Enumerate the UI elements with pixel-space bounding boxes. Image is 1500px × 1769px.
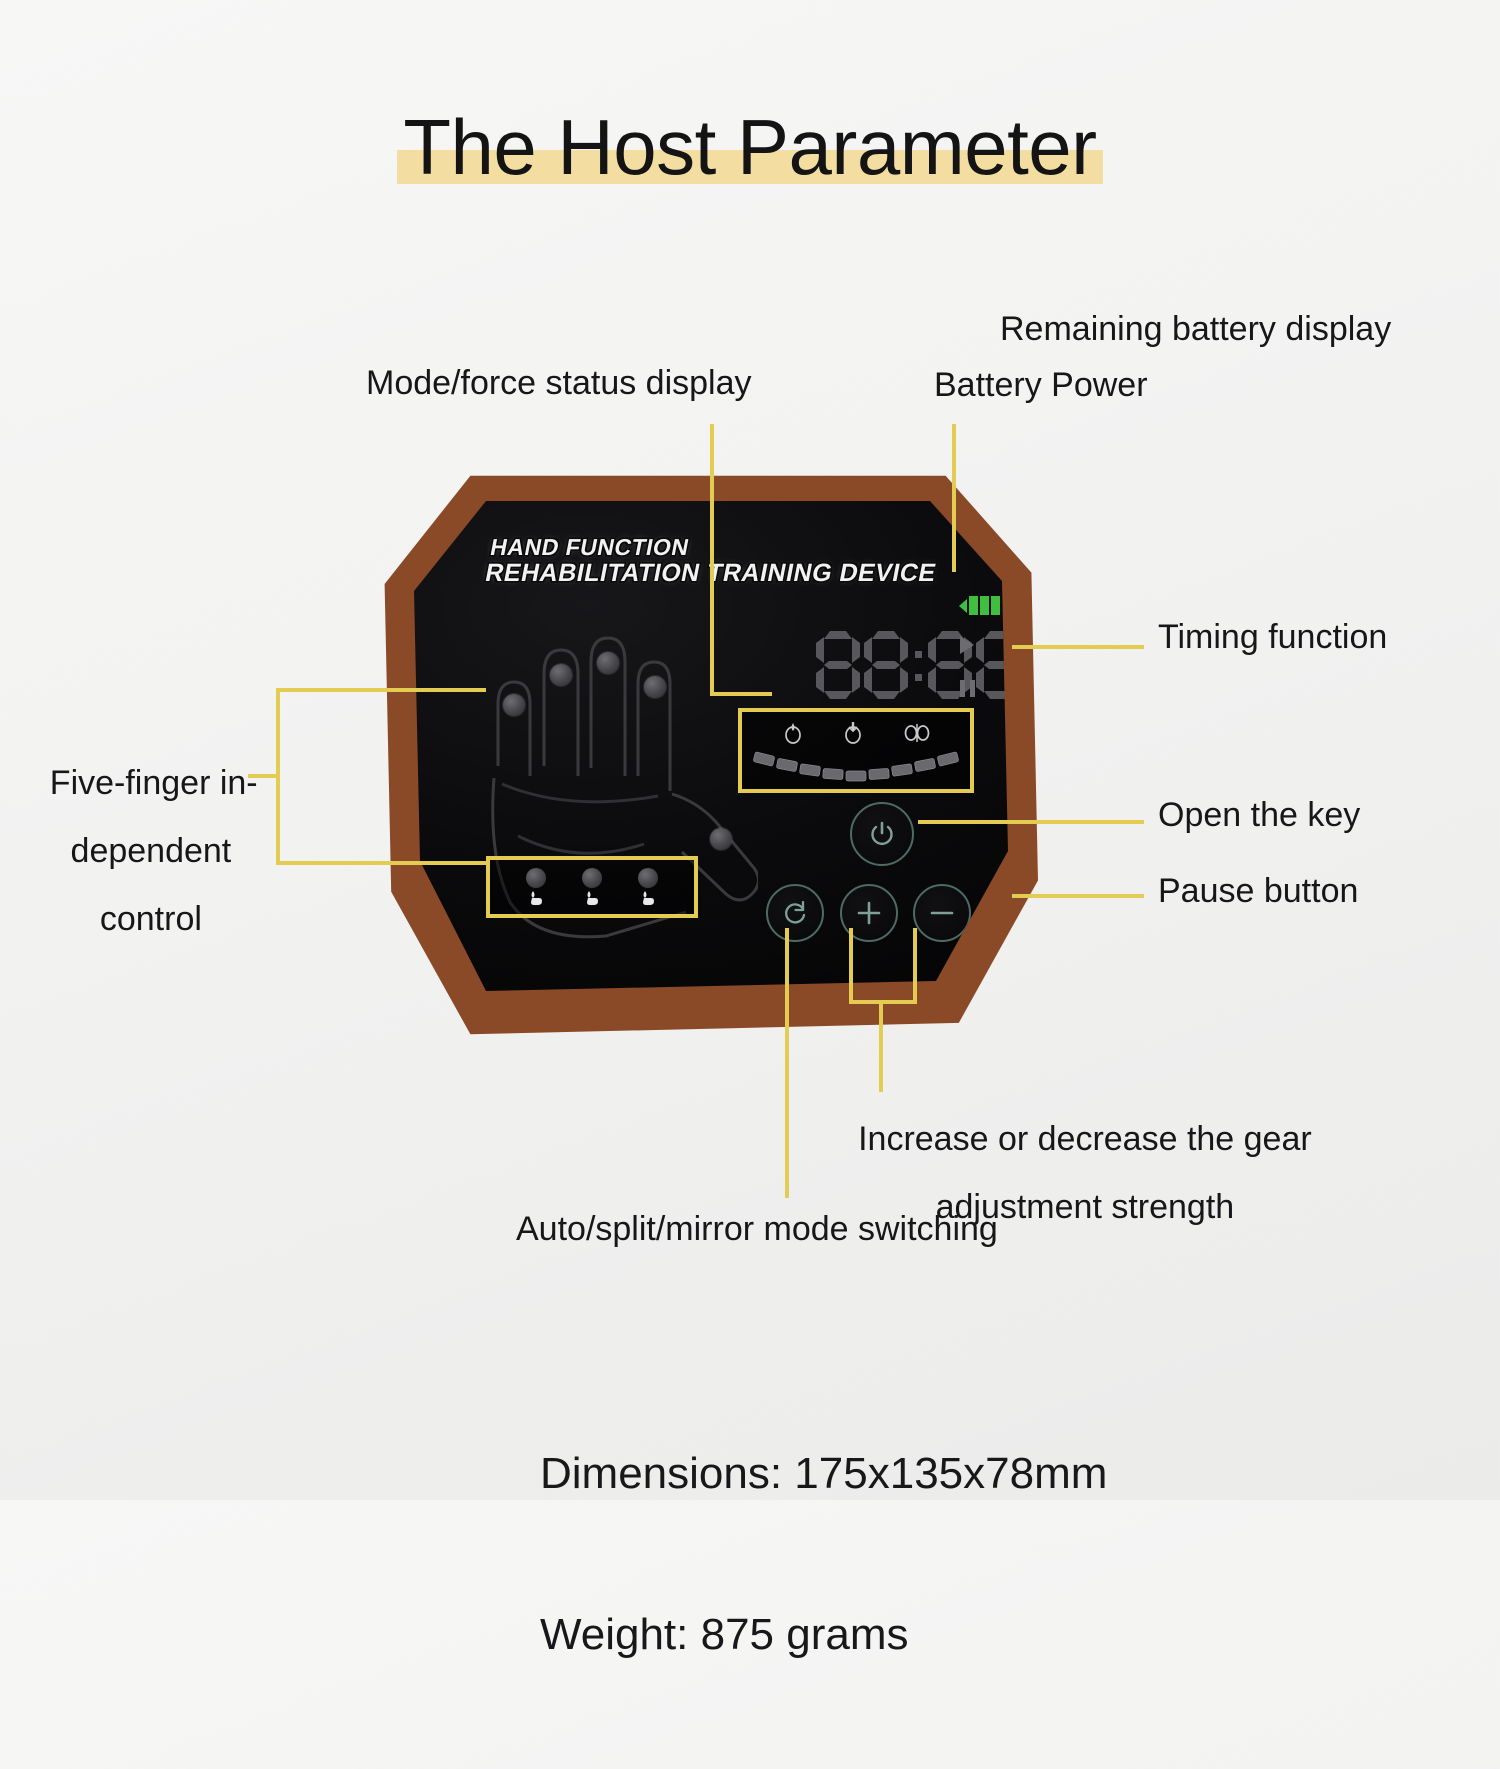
- power-icon: [867, 819, 897, 849]
- battery-bar-3: [991, 596, 1000, 615]
- device-illustration: HAND FUNCTION REHABILITATION TRAINING DE…: [378, 470, 1038, 1040]
- hand-grip-icon: [783, 720, 803, 744]
- leader-open-key-horizontal: [918, 820, 1144, 824]
- mode-force-status-panel: [738, 708, 974, 793]
- finger-sensor-1[interactable]: [526, 868, 546, 907]
- page-title: The Host Parameter: [0, 108, 1500, 186]
- page-title-text: The Host Parameter: [403, 103, 1096, 191]
- timer-colon: [912, 631, 924, 699]
- label-mode-switching: Auto/split/mirror mode switching: [516, 1212, 998, 1246]
- hand-mirror-icon: [904, 720, 930, 744]
- label-remaining-battery: Remaining battery display: [1000, 312, 1391, 346]
- mode-button[interactable]: [766, 884, 824, 942]
- battery-terminal-icon: [959, 599, 967, 613]
- battery-indicator: [959, 596, 1000, 615]
- timer-digit-2: [864, 631, 908, 699]
- finger-led-ring: [597, 652, 619, 674]
- leader-five-finger-top: [276, 688, 486, 692]
- leader-mode-switch-vertical: [785, 928, 789, 1198]
- label-five-finger-line2: dependent: [71, 832, 232, 870]
- leader-gear-right: [913, 928, 917, 1004]
- diagram-canvas: The Host Parameter HAND FUNCTION REHABIL…: [0, 0, 1500, 1500]
- leader-timing-horizontal: [1012, 645, 1144, 649]
- play-triangle-icon: [960, 636, 974, 654]
- pause-bars-icon: [960, 680, 975, 697]
- label-open-the-key: Open the key: [1158, 798, 1360, 832]
- leader-gear-bottom: [849, 1000, 917, 1004]
- finger-press-icon: [584, 889, 600, 907]
- finger-sensor-dot: [638, 868, 658, 888]
- finger-led-index: [503, 694, 525, 716]
- finger-led-pinky: [644, 676, 666, 698]
- spec-weight: Weight: 875 grams: [540, 1608, 1107, 1662]
- timer-digit-4: [976, 631, 1008, 699]
- label-pause-button: Pause button: [1158, 874, 1358, 908]
- hand-point-icon: [843, 720, 863, 744]
- plus-icon: [855, 899, 883, 927]
- spec-dimensions: Dimensions: 175x135x78mm: [540, 1447, 1107, 1501]
- finger-sensor-dot: [526, 868, 546, 888]
- mode-icon-row: [742, 720, 970, 744]
- leader-pause-horizontal: [1012, 894, 1144, 898]
- finger-sensor-dot: [582, 868, 602, 888]
- playback-status-indicators: [960, 636, 975, 697]
- leader-mode-force-vertical: [710, 424, 714, 696]
- label-timing-function: Timing function: [1158, 620, 1387, 654]
- decrease-button[interactable]: [913, 884, 971, 942]
- label-five-finger-control: Five-finger in- dependent control: [12, 732, 252, 970]
- leader-five-finger-bottom: [276, 861, 486, 865]
- label-five-finger-line3: control: [100, 900, 202, 938]
- brand-line-1: HAND FUNCTION: [488, 536, 943, 560]
- force-gauge-arc: [752, 748, 968, 792]
- device-face-panel: HAND FUNCTION REHABILITATION TRAINING DE…: [408, 496, 1008, 996]
- timer-digit-1: [816, 631, 860, 699]
- refresh-circular-arrow-icon: [781, 899, 809, 927]
- leader-five-finger-stub: [248, 774, 278, 778]
- battery-bar-2: [980, 596, 989, 615]
- power-button[interactable]: [850, 802, 914, 866]
- label-mode-force-status: Mode/force status display: [366, 366, 752, 400]
- label-battery-power: Battery Power: [934, 368, 1148, 402]
- leader-battery-vertical: [952, 424, 956, 572]
- leader-gear-drop: [879, 1000, 883, 1092]
- finger-press-icon: [640, 889, 656, 907]
- label-five-finger-line1: Five-finger in-: [50, 764, 258, 802]
- finger-led-middle: [550, 664, 572, 686]
- finger-press-icon: [528, 889, 544, 907]
- minus-icon: [928, 899, 956, 927]
- finger-sensor-3[interactable]: [638, 868, 658, 907]
- battery-bar-1: [969, 596, 978, 615]
- leader-gear-left: [849, 928, 853, 1004]
- finger-sensor-2[interactable]: [582, 868, 602, 907]
- specs-block: Dimensions: 175x135x78mm Weight: 875 gra…: [540, 1340, 1107, 1769]
- seven-segment-timer-display: [816, 631, 1008, 699]
- finger-led-thumb: [710, 828, 732, 850]
- five-finger-control-panel: [486, 856, 698, 918]
- finger-sensor-row: [490, 860, 694, 914]
- label-gear-line1: Increase or decrease the gear: [858, 1120, 1312, 1158]
- leader-mode-force-horizontal: [710, 692, 772, 696]
